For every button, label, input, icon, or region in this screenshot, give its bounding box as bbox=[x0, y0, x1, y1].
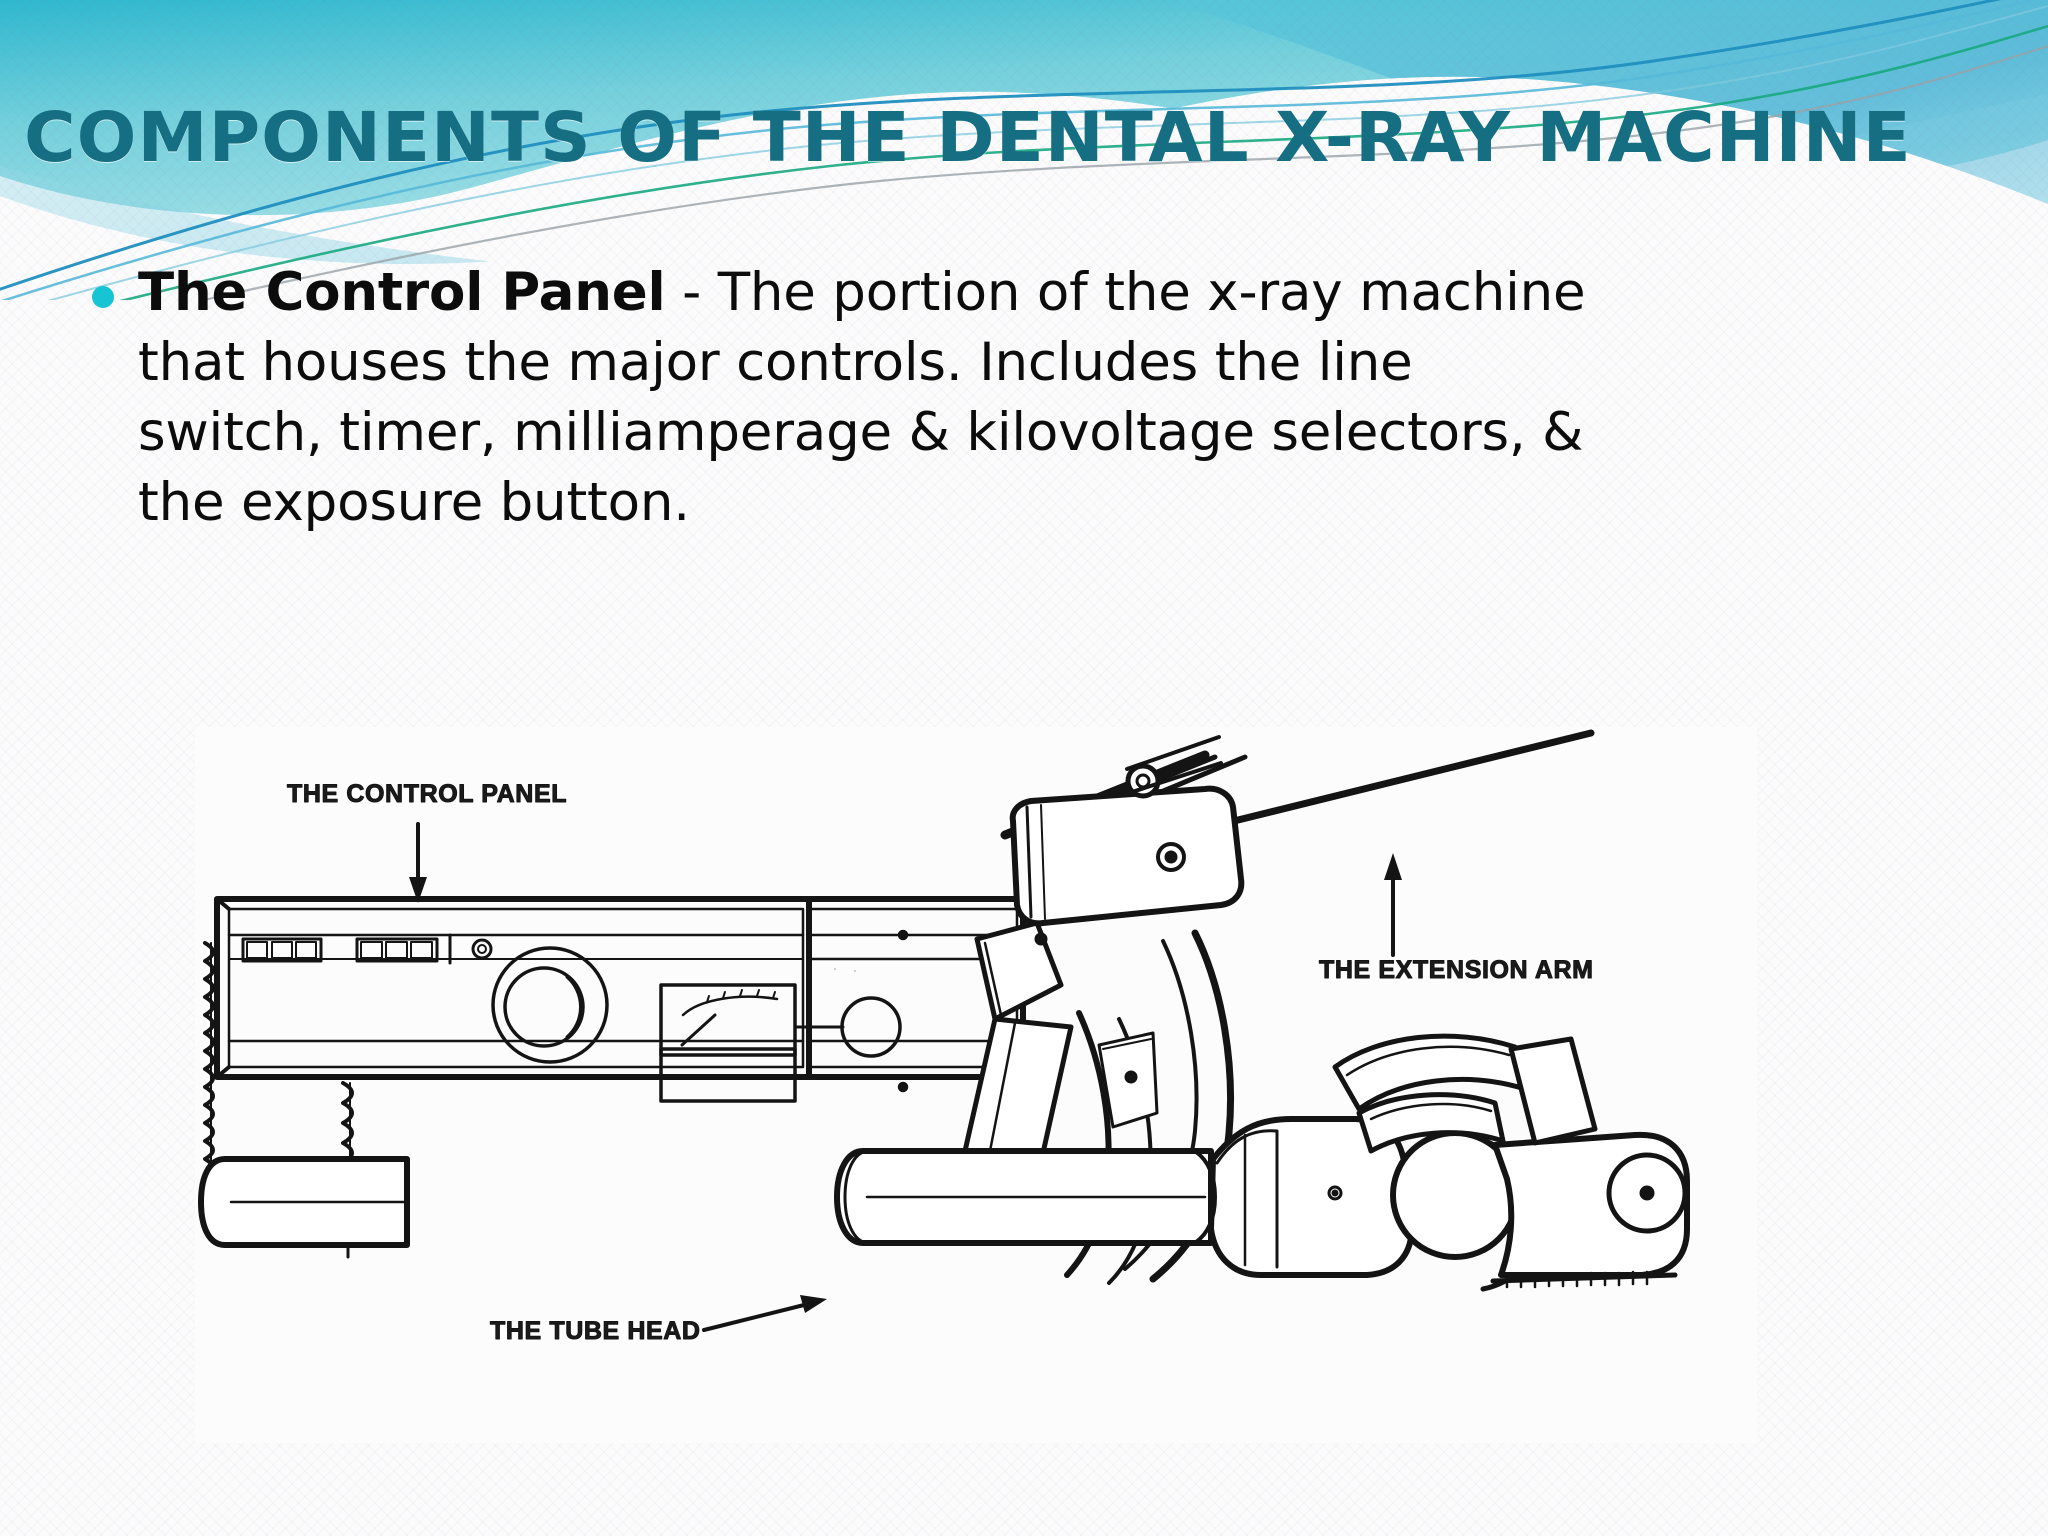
page-title: COMPONENTS OF THE DENTAL X-RAY MACHINE bbox=[24, 104, 2048, 173]
bullet-marker-icon bbox=[92, 286, 114, 308]
diagram-label-tube-head: THE TUBE HEAD bbox=[490, 1317, 701, 1345]
diagram-label-extension-arm: THE EXTENSION ARM bbox=[1319, 956, 1594, 984]
diagram-label-control-panel: THE CONTROL PANEL bbox=[287, 780, 567, 808]
bullet-lead-text: The Control Panel bbox=[138, 262, 665, 323]
xray-machine-diagram: THE CONTROL PANEL THE EXTENSION ARM THE … bbox=[195, 727, 1757, 1443]
slide: COMPONENTS OF THE DENTAL X-RAY MACHINE T… bbox=[0, 0, 2048, 1536]
list-item: The Control Panel - The portion of the x… bbox=[138, 258, 1592, 538]
bullet-list: The Control Panel - The portion of the x… bbox=[92, 258, 1592, 538]
